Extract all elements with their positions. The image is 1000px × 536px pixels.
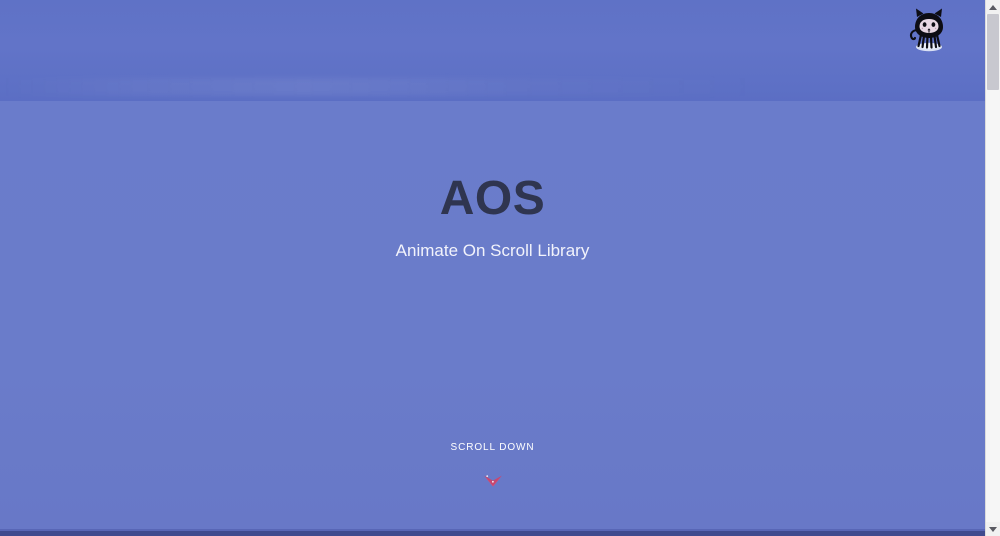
triangle-up-icon <box>989 5 997 10</box>
browser-viewport: AOS Animate On Scroll Library SCROLL DOW… <box>0 0 1000 536</box>
triangle-down-icon <box>989 527 997 532</box>
vertical-scrollbar[interactable] <box>985 0 1000 536</box>
hero-top-band-haze <box>0 78 760 96</box>
page-canvas: AOS Animate On Scroll Library SCROLL DOW… <box>0 0 985 536</box>
hero-body-band <box>0 101 985 529</box>
scrollbar-thumb[interactable] <box>987 14 999 90</box>
scrollbar-down-button[interactable] <box>986 522 1000 536</box>
github-link[interactable] <box>903 2 955 54</box>
octocat-icon[interactable] <box>903 2 955 54</box>
page-bottom-rule <box>0 531 985 536</box>
scrollbar-track[interactable] <box>986 14 1000 522</box>
scrollbar-up-button[interactable] <box>986 0 1000 14</box>
